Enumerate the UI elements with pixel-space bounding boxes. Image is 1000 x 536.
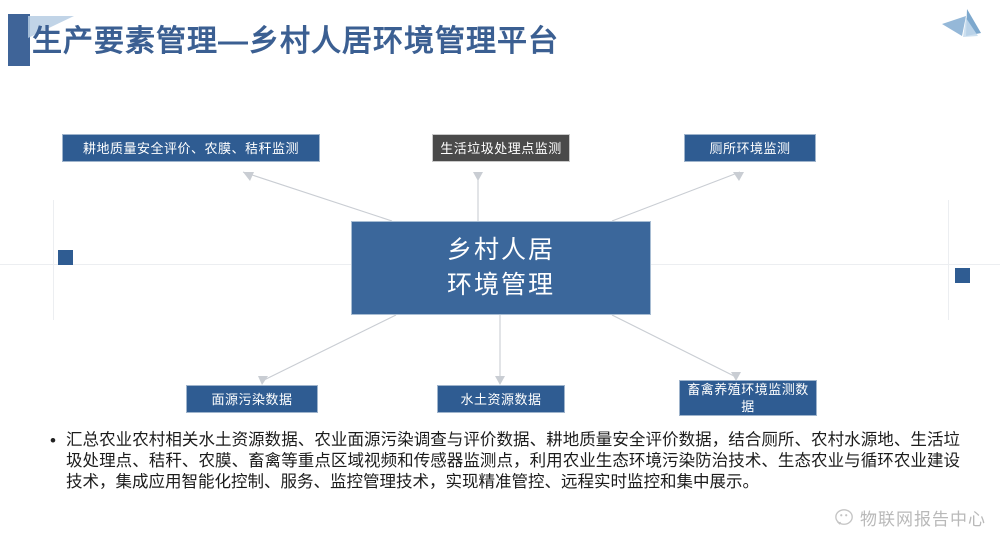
description-block: • 汇总农业农村相关水土资源数据、农业面源污染调查与评价数据、耕地质量安全评价数… — [40, 430, 960, 493]
node-livestock-environment-data[interactable]: 畜禽养殖环境监测数据 — [679, 380, 817, 416]
connector-center-to-top-right — [612, 172, 740, 221]
triangles-logo-icon — [936, 6, 986, 48]
connector-center-to-bottom-right — [612, 315, 736, 377]
connector-center-to-bottom-left — [262, 315, 396, 381]
page-header: 生产要素管理—乡村人居环境管理平台 — [0, 0, 1000, 88]
wechat-official-account-icon — [835, 508, 854, 527]
page-title: 生产要素管理—乡村人居环境管理平台 — [32, 20, 559, 64]
bullet-marker: • — [40, 430, 66, 451]
node-toilet-environment-monitoring[interactable]: 厕所环境监测 — [684, 134, 816, 162]
description-bullet-row: • 汇总农业农村相关水土资源数据、农业面源污染调查与评价数据、耕地质量安全评价数… — [40, 430, 960, 493]
node-nonpoint-pollution-data[interactable]: 面源污染数据 — [186, 385, 318, 413]
node-farmland-quality-monitoring[interactable]: 耕地质量安全评价、农膜、秸秆监测 — [62, 134, 320, 162]
node-center-rural-living-environment[interactable]: 乡村人居 环境管理 — [351, 221, 651, 315]
node-label: 耕地质量安全评价、农膜、秸秆监测 — [83, 140, 299, 157]
node-center-line2: 环境管理 — [447, 268, 555, 303]
node-label: 生活垃圾处理点监测 — [440, 140, 562, 157]
description-paragraph: 汇总农业农村相关水土资源数据、农业面源污染调查与评价数据、耕地质量安全评价数据，… — [66, 430, 960, 493]
connector-center-to-top-left — [243, 172, 392, 221]
node-label: 畜禽养殖环境监测数据 — [686, 381, 810, 415]
node-domestic-waste-monitoring[interactable]: 生活垃圾处理点监测 — [432, 134, 570, 162]
watermark-label: 物联网报告中心 — [860, 505, 986, 530]
node-label: 水土资源数据 — [460, 391, 541, 408]
relationship-diagram: 耕地质量安全评价、农膜、秸秆监测 生活垃圾处理点监测 厕所环境监测 乡村人居 环… — [0, 88, 1000, 428]
title-accent-bar-icon — [8, 14, 30, 66]
node-label: 厕所环境监测 — [709, 140, 790, 157]
watermark: 物联网报告中心 — [835, 505, 986, 530]
node-label: 面源污染数据 — [211, 391, 292, 408]
node-center-line1: 乡村人居 — [447, 233, 555, 268]
node-water-soil-resource-data[interactable]: 水土资源数据 — [437, 385, 565, 413]
